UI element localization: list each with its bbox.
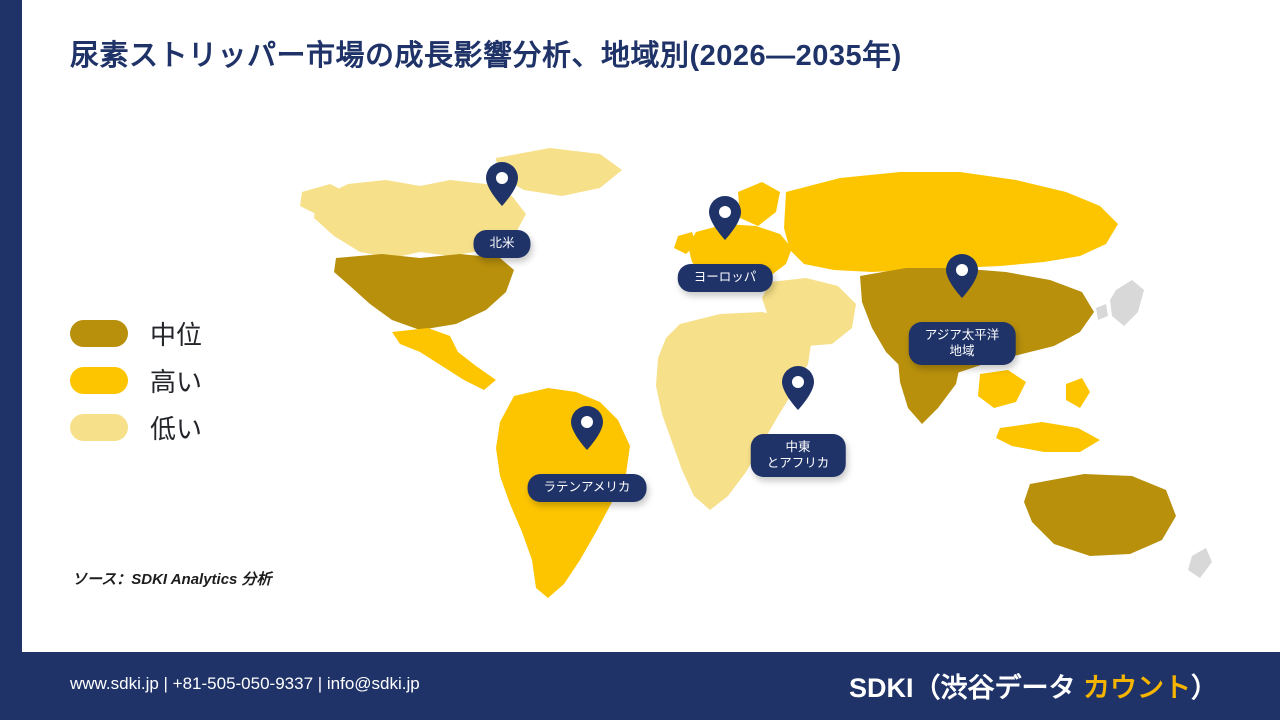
pin-marker-dot	[792, 376, 804, 388]
region-indonesia	[996, 422, 1100, 452]
pin-marker-dot	[956, 264, 968, 276]
footer-bar: www.sdki.jp | +81-505-050-9337 | info@sd…	[0, 652, 1280, 720]
page-title: 尿素ストリッパー市場の成長影響分析、地域別(2026—2035年)	[70, 38, 1250, 74]
legend-label-mid: 中位	[150, 315, 202, 352]
legend-swatch-mid	[70, 320, 128, 347]
slide-root: 尿素ストリッパー市場の成長影響分析、地域別(2026—2035年) 中位 高い …	[0, 0, 1280, 720]
legend-label-low: 低い	[150, 409, 202, 446]
region-philippines	[1066, 378, 1090, 408]
left-accent-bar	[0, 0, 22, 720]
legend-item-high: 高い	[70, 357, 320, 404]
region-japan	[1110, 280, 1144, 326]
footer-brand: SDKI（渋谷データ カウント）	[849, 666, 1218, 705]
region-scandinavia	[738, 182, 780, 226]
region-africa	[656, 312, 812, 510]
region-label-middle-east-africa[interactable]: 中東 とアフリカ	[751, 434, 846, 477]
pin-marker-dot	[581, 416, 593, 428]
world-map: 北米 ヨーロッパ アジア太平洋 地域 中東 とアフリカ ラテンアメリカ	[300, 140, 1250, 630]
brand-suffix: ）	[1191, 673, 1218, 703]
legend-swatch-high	[70, 367, 128, 394]
region-australia	[1024, 474, 1176, 556]
region-label-europe[interactable]: ヨーロッパ	[678, 264, 773, 292]
legend-swatch-low	[70, 414, 128, 441]
pin-marker-dot	[496, 172, 508, 184]
region-southeast-asia	[978, 370, 1026, 408]
map-pin-middle-east-africa	[782, 366, 814, 410]
footer-contact[interactable]: www.sdki.jp | +81-505-050-9337 | info@sd…	[70, 674, 420, 694]
pin-marker-dot	[719, 206, 731, 218]
legend-label-high: 高い	[150, 362, 202, 399]
region-united-states	[334, 254, 514, 330]
legend-item-mid: 中位	[70, 310, 320, 357]
region-korea	[1096, 304, 1108, 320]
map-landmasses	[300, 148, 1212, 598]
region-mexico	[392, 328, 496, 390]
source-note: ソース：SDKI Analytics 分析	[72, 568, 272, 589]
brand-prefix: SDKI（渋谷データ	[849, 673, 1083, 703]
region-label-north-america[interactable]: 北米	[473, 230, 530, 258]
region-new-zealand	[1188, 548, 1212, 578]
brand-accent: カウント	[1083, 673, 1191, 703]
region-russia	[784, 172, 1118, 272]
legend-item-low: 低い	[70, 404, 320, 451]
region-label-latin-america[interactable]: ラテンアメリカ	[528, 474, 647, 502]
region-label-asia-pacific[interactable]: アジア太平洋 地域	[909, 322, 1016, 365]
legend: 中位 高い 低い	[70, 310, 320, 451]
